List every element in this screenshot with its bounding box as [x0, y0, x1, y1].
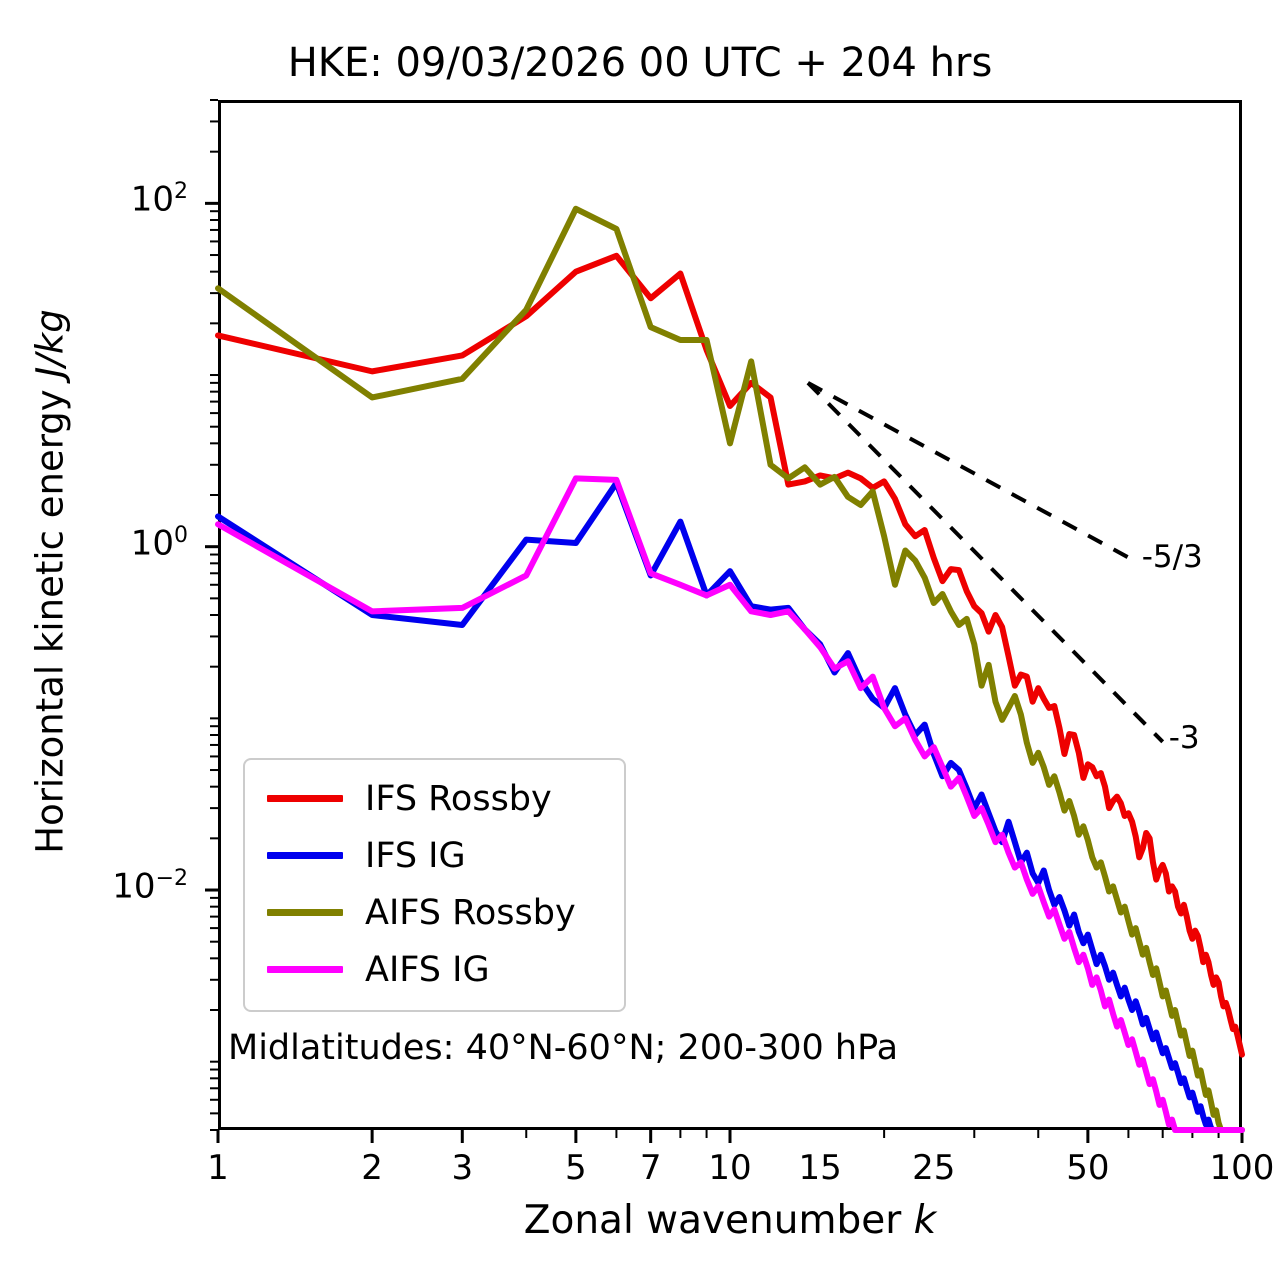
y-tick-label-1: 100: [68, 523, 188, 563]
legend-swatch-icon: [267, 909, 343, 916]
legend-item-aifs-ig[interactable]: AIFS IG: [245, 941, 624, 998]
legend-item-label: AIFS IG: [365, 950, 490, 990]
slope-label-five-thirds: -5/3: [1142, 539, 1203, 575]
reference-line-53: [808, 383, 1136, 562]
slope-label-minus-three: -3: [1169, 720, 1200, 756]
legend-item-ifs-ig[interactable]: IFS IG: [245, 827, 624, 884]
x-tick-label-6: 15: [760, 1148, 880, 1188]
legend-item-label: AIFS Rossby: [365, 893, 576, 933]
legend[interactable]: IFS RossbyIFS IGAIFS RossbyAIFS IG: [243, 758, 626, 1012]
figure-root: HKE: 09/03/2026 00 UTC + 204 hrs Horizon…: [0, 0, 1280, 1288]
x-tick-label-9: 100: [1182, 1148, 1280, 1188]
legend-item-ifs-rossby[interactable]: IFS Rossby: [245, 770, 624, 827]
y-tick-label-2: 10−2: [68, 866, 188, 906]
x-tick-label-7: 25: [874, 1148, 994, 1188]
legend-swatch-icon: [267, 795, 343, 802]
legend-item-label: IFS IG: [365, 836, 466, 876]
x-tick-label-0: 1: [158, 1148, 278, 1188]
region-annotation: Midlatitudes: 40°N-60°N; 200-300 hPa: [228, 1028, 898, 1068]
y-tick-label-0: 102: [68, 179, 188, 219]
x-tick-label-8: 50: [1028, 1148, 1148, 1188]
legend-item-label: IFS Rossby: [365, 779, 552, 819]
legend-swatch-icon: [267, 852, 343, 859]
legend-item-aifs-rossby[interactable]: AIFS Rossby: [245, 884, 624, 941]
legend-swatch-icon: [267, 966, 343, 973]
x-tick-label-2: 3: [402, 1148, 522, 1188]
chart-canvas: [0, 0, 1280, 1288]
